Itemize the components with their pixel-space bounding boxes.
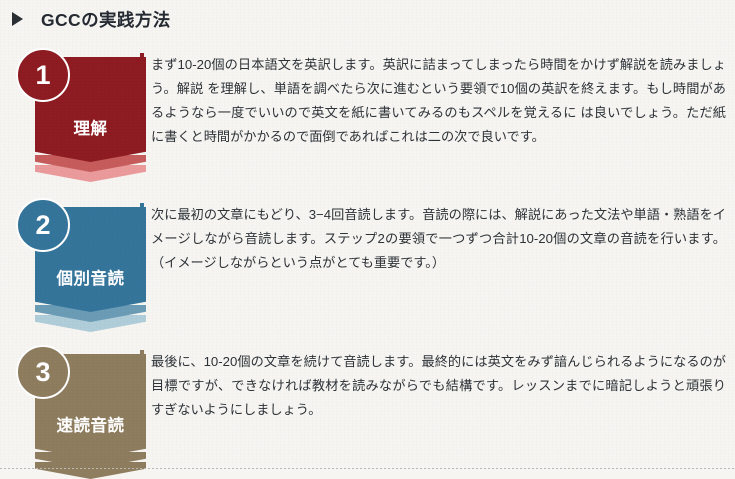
step-number-circle: 3 [16,345,70,399]
page-title: GCCの実践方法 [41,7,171,32]
step-description: まず10-20個の日本語文を英訳します。英訳に詰まってしまったら時間をかけず解説… [140,53,726,149]
step-number-circle: 1 [16,48,70,102]
step-label: 個別音読 [57,271,125,288]
step-description: 最後に、10-20個の文章を続けて音読します。最終的には英文をみず諳んじられるよ… [140,350,726,422]
triangle-right-icon [12,12,23,26]
step-label: 速読音読 [57,418,125,435]
step-description: 次に最初の文章にもどり、3−4回音読します。音読の際には、解説にあった文法や単語… [140,203,726,275]
step-label: 理解 [74,121,108,138]
step-number-circle: 2 [16,198,70,252]
page-heading: GCCの実践方法 [0,0,171,38]
